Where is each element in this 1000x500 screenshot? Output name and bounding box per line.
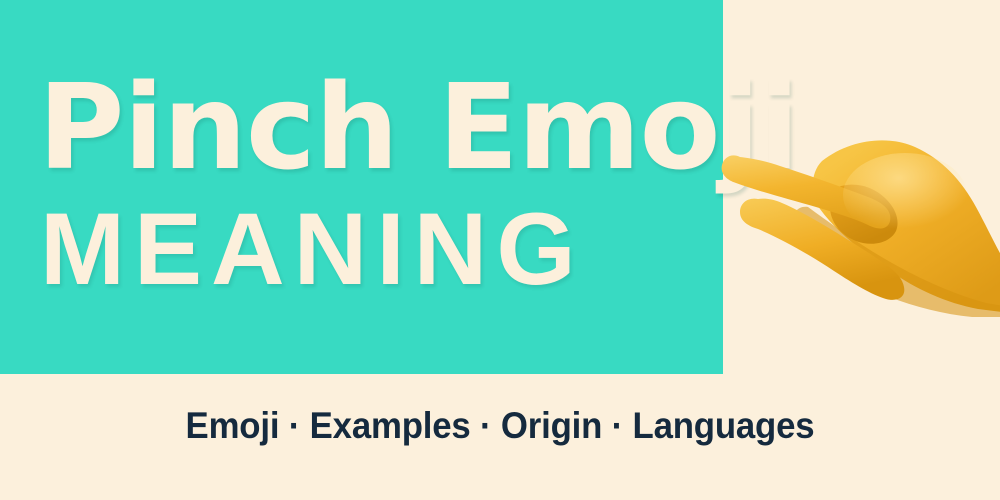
page-title-secondary: MEANING bbox=[40, 198, 585, 300]
pinching-hand-illustration bbox=[710, 95, 1000, 335]
pinching-hand-icon bbox=[710, 95, 1000, 335]
caption-text: Emoji · Examples · Origin · Languages bbox=[30, 404, 970, 448]
page-title-primary: Pinch Emoji bbox=[38, 68, 799, 186]
banner-graphic: Pinch Emoji MEANING bbox=[0, 0, 1000, 500]
hand-highlight bbox=[843, 153, 967, 237]
